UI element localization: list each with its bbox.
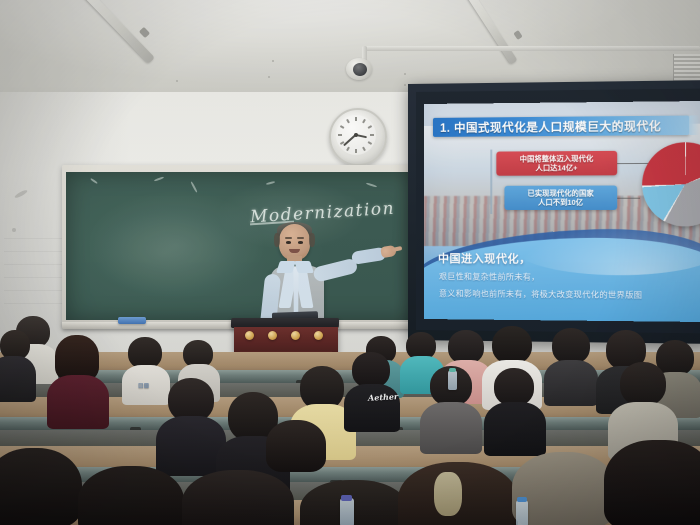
lecturer-right-upper-arm <box>312 258 358 283</box>
wall-clock <box>329 108 387 166</box>
water-bottle[interactable] <box>340 498 354 525</box>
callout-red-line1: 中国将整体迈入现代化 <box>520 154 594 164</box>
podium-emblem <box>245 331 254 340</box>
wall-scuff <box>12 228 16 232</box>
callout-red-line2: 人口达14亿+ <box>535 163 577 172</box>
chalk-mark <box>366 182 377 187</box>
lecturer-head <box>279 224 310 260</box>
ceiling-fixture-mark <box>176 80 178 82</box>
callout-box-blue: 已实现现代化的国家 人口不到10亿 <box>504 186 617 210</box>
slide-headline: 中国进入现代化， <box>438 250 531 267</box>
student-shirt-graphic: ▨▩ <box>138 382 149 389</box>
bottle-cap <box>341 495 352 501</box>
callout-leader-line <box>617 198 640 199</box>
ceiling-fixture-mark <box>404 84 406 86</box>
callout-blue-line2: 人口不到10亿 <box>538 198 583 207</box>
slide-left-rule <box>490 150 492 214</box>
slide-body-line-2: 意义和影响也前所未有，将极大改变现代化的世界版图 <box>439 288 642 301</box>
slide-title-accent <box>689 115 700 135</box>
clock-center-pin <box>354 133 358 137</box>
slide-title-text: 1. 中国式现代化是人口规模巨大的现代化 <box>433 117 661 135</box>
student-shirt-graphic-text: Aether <box>368 391 399 403</box>
chalk-eraser[interactable] <box>118 317 146 324</box>
bottle-cap <box>449 368 456 372</box>
camera-lens-icon <box>353 63 367 76</box>
ceiling-fixture-mark <box>272 60 274 62</box>
chalk-mark <box>90 178 98 184</box>
podium-emblem <box>268 331 277 340</box>
podium-emblem <box>314 331 323 340</box>
ceiling-conduit <box>364 46 700 51</box>
ceiling-fixture-mark <box>268 76 270 78</box>
lecturer-collar <box>294 261 314 273</box>
ceiling-fixture-mark <box>404 73 406 75</box>
slide-body-line-1: 艰巨性和复杂性前所未有， <box>439 271 540 283</box>
podium-emblem <box>291 331 300 340</box>
chalk-mark <box>154 176 164 181</box>
water-bottle[interactable] <box>448 370 457 390</box>
clock-face <box>336 115 376 155</box>
lecture-hall-photo: Modernization 1. 中国式现代化是人口规模巨大的现代化 中国将整体… <box>0 0 700 525</box>
callout-blue-line1: 已实现现代化的国家 <box>527 189 593 198</box>
water-bottle[interactable] <box>516 500 528 525</box>
callout-leader-line <box>617 163 648 164</box>
callout-box-red: 中国将整体迈入现代化 人口达14亿+ <box>496 151 617 176</box>
bottle-cap <box>517 497 527 502</box>
presentation-slide[interactable]: 1. 中国式现代化是人口规模巨大的现代化 中国将整体迈入现代化 人口达14亿+ … <box>424 101 700 322</box>
slide-title-bar: 1. 中国式现代化是人口规模巨大的现代化 <box>433 116 689 137</box>
